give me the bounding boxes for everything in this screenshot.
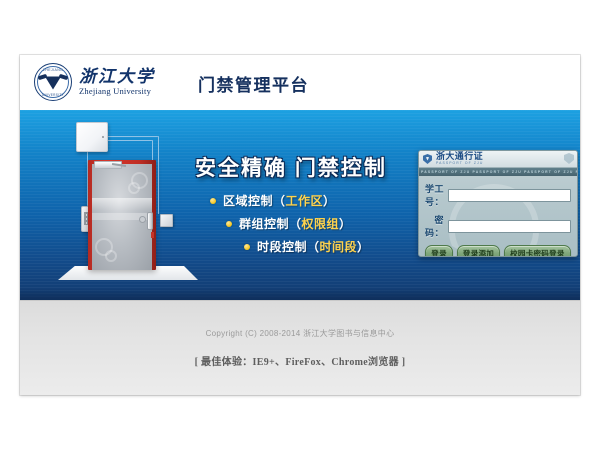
page-container: ZHEJIANG UNIVERSITY 浙江大学 Zhejiang Univer… — [20, 55, 580, 395]
student-staff-id-input[interactable] — [448, 189, 571, 202]
list-item: 时段控制（时间段） — [244, 238, 370, 255]
campus-card-login-button[interactable]: 校园卡密码登录 — [504, 245, 571, 257]
door-handle-icon — [147, 212, 153, 230]
form-row-userid: 学工号： — [425, 182, 571, 208]
wire-to-card-reader — [158, 136, 159, 214]
list-item: 群组控制（权限组） — [226, 215, 370, 232]
feature-text: 区域控制（工作区） — [223, 192, 336, 209]
shield-watermark-icon — [564, 153, 574, 164]
door-frame — [88, 160, 156, 270]
university-name-block: 浙江大学 Zhejiang University — [79, 68, 155, 96]
access-control-door-illustration — [48, 118, 213, 293]
feature-text: 群组控制（权限组） — [239, 215, 352, 232]
passport-marquee-band: PASSPORT OF ZJU PASSPORT OF ZJU PASSPORT… — [419, 168, 577, 176]
login-panel-title-en: PASSPORT OF ZJU — [436, 162, 483, 165]
login-panel-title-block: 浙大通行证 PASSPORT OF ZJU — [436, 152, 483, 165]
page-title: 门禁管理平台 — [198, 71, 309, 96]
site-footer: Copyright (C) 2008-2014 浙江大学图书与信息中心 [ 最佳… — [20, 300, 580, 395]
bullet-dot-icon — [244, 244, 250, 250]
login-add-button[interactable]: 登录添加 — [457, 245, 500, 257]
login-form: 学工号： 密 码： 登录 登录添加 校园卡密码登录 — [419, 176, 577, 257]
feature-text: 时段控制（时间段） — [257, 238, 370, 255]
login-button-row: 登录 登录添加 校园卡密码登录 — [425, 245, 571, 257]
browser-recommendation-text: [ 最佳体验：IE9+、FireFox、Chrome浏览器 ] — [20, 353, 580, 368]
password-label: 密 码： — [425, 213, 444, 239]
login-panel-header: 浙大通行证 PASSPORT OF ZJU — [419, 151, 577, 168]
wire-controller-top — [106, 136, 158, 137]
userid-label: 学工号： — [425, 182, 444, 208]
door-lock-icon — [139, 216, 146, 223]
copyright-text: Copyright (C) 2008-2014 浙江大学图书与信息中心 — [20, 301, 580, 339]
hero-banner: 安全精确 门禁控制 区域控制（工作区） 群组控制（权限组） 时段控制（时间段） … — [20, 110, 580, 300]
banner-feature-list: 区域控制（工作区） 群组控制（权限组） 时段控制（时间段） — [210, 192, 370, 261]
bullet-dot-icon — [226, 221, 232, 227]
login-button[interactable]: 登录 — [425, 245, 453, 257]
seal-bottom-text: UNIVERSITY — [42, 93, 64, 97]
seal-top-text: ZHEJIANG — [43, 68, 64, 72]
wire-controller-top-2 — [106, 140, 152, 141]
card-reader-icon — [160, 214, 173, 227]
door-strike-indicator — [151, 232, 154, 238]
banner-slogan: 安全精确 门禁控制 — [195, 152, 387, 182]
university-name-cn: 浙江大学 — [79, 68, 155, 85]
site-header: ZHEJIANG UNIVERSITY 浙江大学 Zhejiang Univer… — [20, 55, 580, 110]
password-input[interactable] — [448, 220, 571, 233]
list-item: 区域控制（工作区） — [210, 192, 370, 209]
university-logo[interactable]: ZHEJIANG UNIVERSITY 浙江大学 Zhejiang Univer… — [34, 63, 155, 101]
login-panel-title-cn: 浙大通行证 — [436, 152, 483, 161]
form-row-password: 密 码： — [425, 213, 571, 239]
controller-box-icon — [76, 122, 108, 152]
university-name-en: Zhejiang University — [79, 87, 155, 96]
shield-icon — [423, 154, 432, 164]
bullet-dot-icon — [210, 198, 216, 204]
zju-seal-icon: ZHEJIANG UNIVERSITY — [34, 63, 72, 101]
login-panel: 浙大通行证 PASSPORT OF ZJU PASSPORT OF ZJU PA… — [418, 150, 578, 257]
